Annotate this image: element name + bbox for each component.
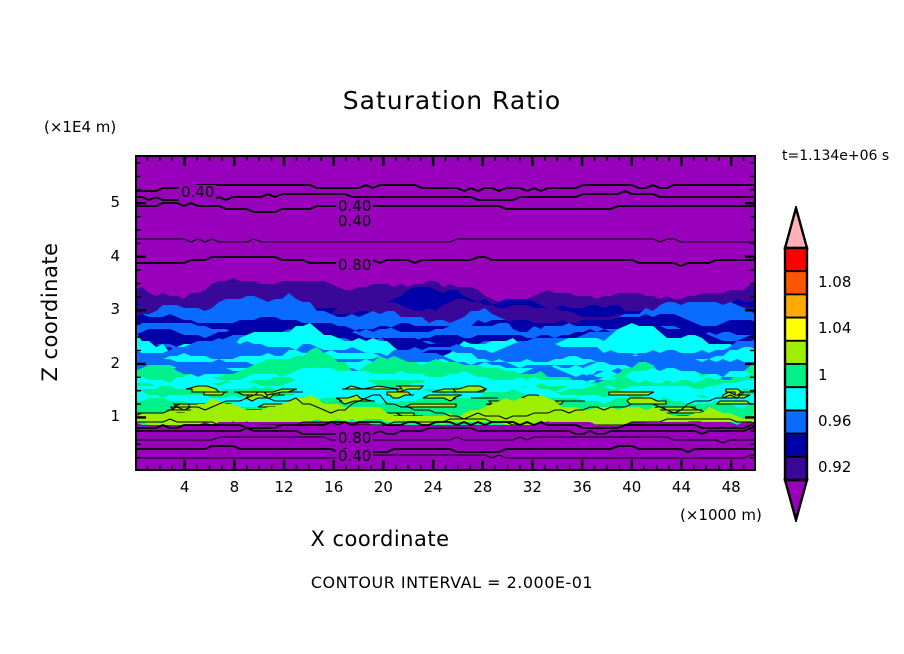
x-axis-unit-label: (×1000 m) (680, 506, 762, 524)
y-tick-label: 5 (92, 193, 120, 211)
contour-interval-caption: CONTOUR INTERVAL = 2.000E-01 (0, 573, 904, 592)
y-axis-title: Z coordinate (38, 202, 62, 422)
x-tick-label: 20 (363, 478, 403, 496)
x-tick-label: 36 (562, 478, 602, 496)
x-tick-label: 40 (612, 478, 652, 496)
page-title: Saturation Ratio (0, 86, 904, 115)
colorbar-tick-label: 0.96 (818, 412, 851, 430)
colorbar-tick-label: 1.04 (818, 319, 851, 337)
contour-plot-canvas (135, 155, 756, 471)
contour-label: 0.80 (336, 258, 373, 274)
timestamp-label: t=1.134e+06 s (782, 148, 889, 164)
colorbar-canvas (776, 206, 816, 522)
colorbar[interactable] (776, 206, 816, 522)
y-tick-label: 4 (92, 247, 120, 265)
x-tick-label: 8 (214, 478, 254, 496)
x-tick-label: 12 (264, 478, 304, 496)
x-tick-label: 48 (711, 478, 751, 496)
colorbar-tick-label: 1 (818, 366, 828, 384)
y-axis-unit-label: (×1E4 m) (44, 118, 116, 136)
x-axis-title: X coordinate (0, 527, 760, 551)
contour-label: 0.40 (336, 449, 373, 465)
contour-label: 0.40 (336, 214, 373, 230)
x-tick-label: 28 (463, 478, 503, 496)
x-tick-label: 4 (165, 478, 205, 496)
contour-plot (135, 155, 756, 471)
x-tick-label: 44 (661, 478, 701, 496)
y-tick-label: 3 (92, 300, 120, 318)
colorbar-tick-label: 0.92 (818, 458, 851, 476)
contour-label: 0.80 (336, 431, 373, 447)
x-tick-label: 24 (413, 478, 453, 496)
contour-label: 0.40 (179, 185, 216, 201)
y-tick-label: 1 (92, 407, 120, 425)
colorbar-tick-label: 1.08 (818, 273, 851, 291)
x-tick-label: 32 (512, 478, 552, 496)
y-tick-label: 2 (92, 354, 120, 372)
x-tick-label: 16 (314, 478, 354, 496)
